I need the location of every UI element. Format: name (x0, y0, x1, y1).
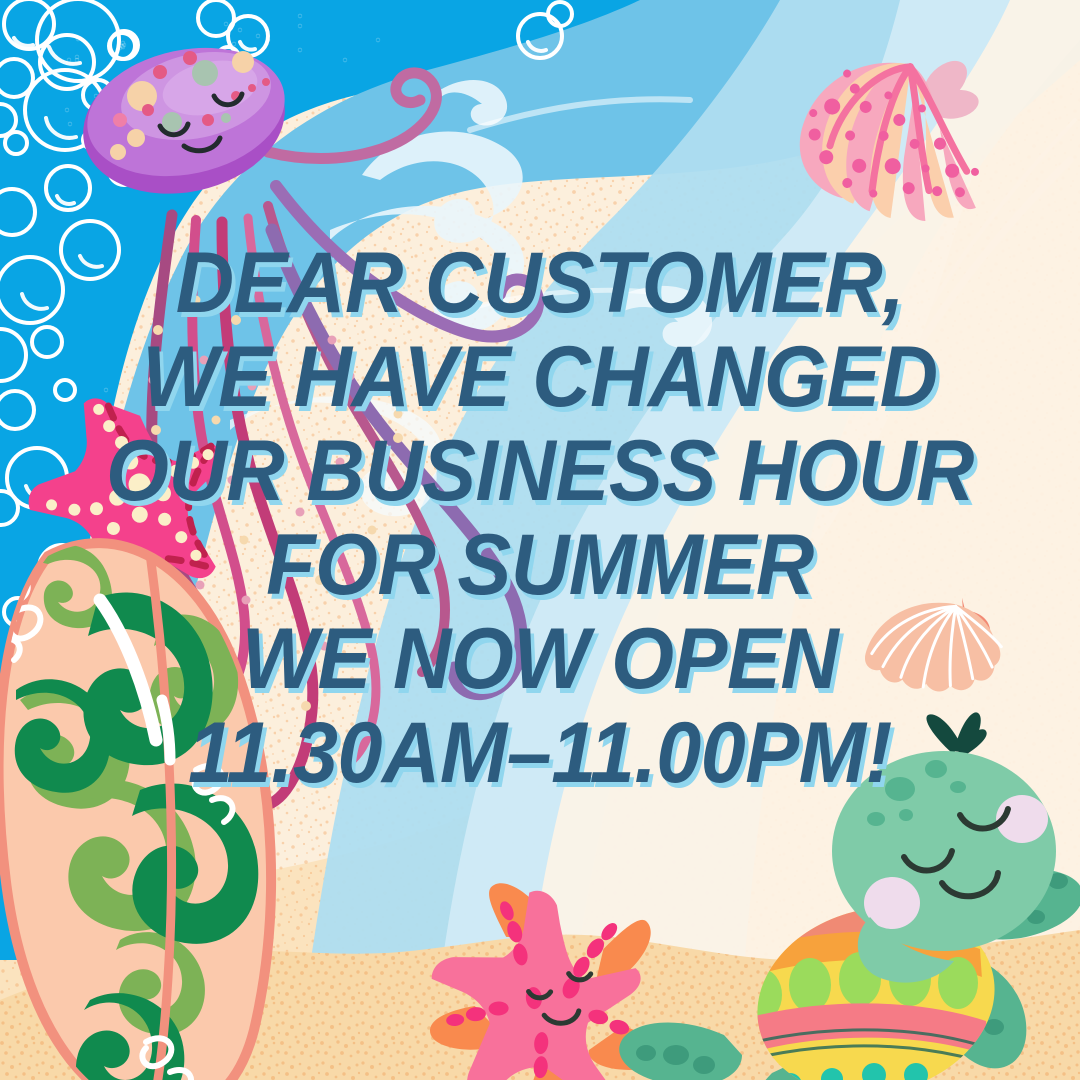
turtle-sprout (926, 712, 986, 757)
sea-turtle (0, 0, 1080, 1080)
poster-canvas: DEAR CUSTOMER, WE HAVE CHANGED OUR BUSIN… (0, 0, 1080, 1080)
